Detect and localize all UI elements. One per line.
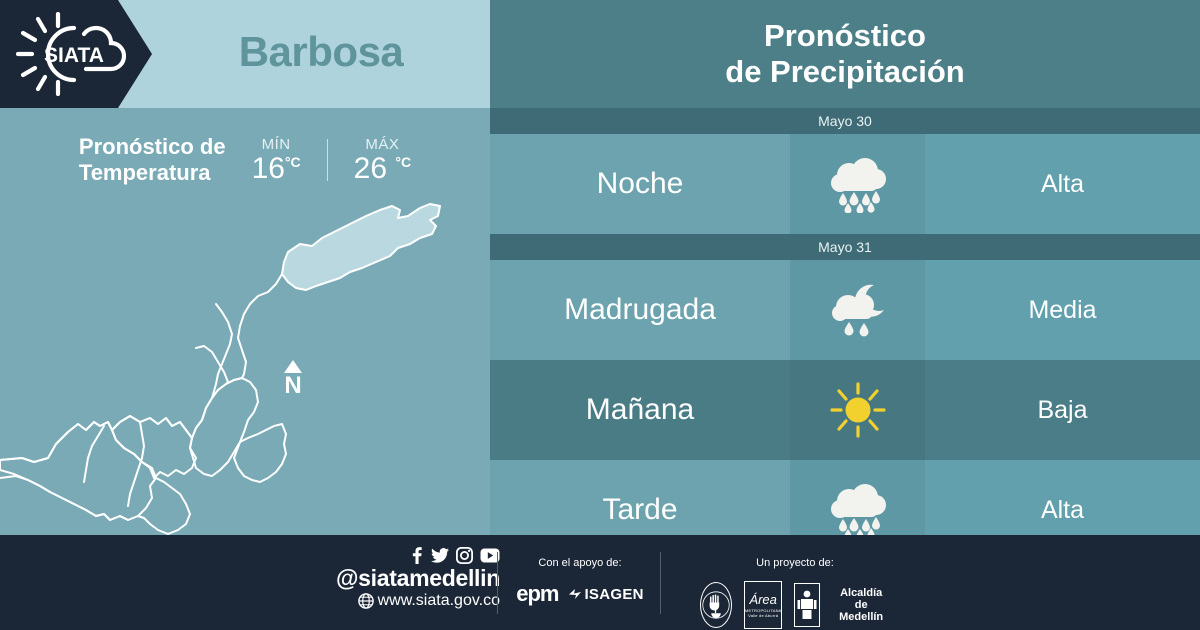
epm-logo: epm [516, 581, 558, 607]
temperature-min-label: MÍN [252, 136, 301, 153]
sun-icon [827, 381, 889, 439]
instagram-icon[interactable] [456, 547, 473, 564]
compass-label: N [276, 373, 310, 398]
weather-icon-cell-madrugada [790, 260, 925, 360]
hand-torch-icon [701, 590, 731, 620]
area-logo-sub: METROPOLITANA Valle de Aburrá [745, 608, 781, 618]
area-logo-text: Área [749, 593, 776, 606]
temperature-min: MÍN 16°C [252, 136, 301, 184]
social-block: @siatamedellin www.siata.gov.co [300, 547, 500, 610]
date-band-may30: Mayo 30 [490, 108, 1200, 134]
temperature-max: MÁX 26 °C [354, 136, 411, 184]
weather-icon-cell-noche [790, 134, 925, 234]
period-label-noche: Noche [490, 134, 790, 234]
support-logos: epm ISAGEN [505, 581, 655, 607]
map-region-barbosa[interactable] [282, 204, 440, 290]
temperature-title-line2: Temperatura [79, 160, 226, 186]
date-band-may31: Mayo 31 [490, 234, 1200, 260]
footer: @siatamedellin www.siata.gov.co Con el a… [0, 535, 1200, 630]
temperature-max-reading: 26 °C [354, 154, 411, 184]
project-caption: Un proyecto de: [700, 557, 890, 569]
sun-cloud-icon: SIATA [12, 12, 132, 96]
isagen-logo: ISAGEN [568, 586, 643, 603]
social-icons [300, 547, 500, 564]
period-label-madrugada: Madrugada [490, 260, 790, 360]
moon-cloud-rain-icon [827, 281, 889, 339]
city-name: Barbosa [152, 0, 490, 108]
probability-noche: Alta [925, 134, 1200, 234]
temperature-max-value: 26 [354, 152, 387, 185]
temperature-min-value: 16 [252, 152, 285, 185]
alcaldia-crest-icon [794, 583, 820, 627]
municipality-map [0, 186, 490, 535]
precipitation-title-line1: Pronóstico [764, 18, 926, 54]
temperature-max-label: MÁX [354, 136, 411, 153]
project-logos: Área METROPOLITANA Valle de Aburrá [700, 581, 890, 629]
precipitation-title: Pronóstico de Precipitación [490, 0, 1200, 108]
footer-divider-1 [497, 552, 498, 614]
support-block: Con el apoyo de: epm ISAGEN [505, 557, 655, 607]
facebook-icon[interactable] [409, 547, 424, 564]
twitter-icon[interactable] [431, 547, 449, 564]
period-label-manana: Mañana [490, 360, 790, 460]
social-handle[interactable]: @siatamedellin [300, 566, 500, 591]
compass-north: N [276, 360, 310, 398]
siata-logo-text: SIATA [44, 44, 104, 67]
raindrops [839, 191, 880, 213]
universidad-de-medellin-seal [700, 582, 732, 628]
website-line[interactable]: www.siata.gov.co [300, 591, 500, 610]
isagen-text: ISAGEN [584, 586, 643, 603]
isagen-mark-icon [568, 588, 582, 601]
precipitation-title-line2: de Precipitación [725, 54, 964, 90]
map-region-outlines [0, 274, 286, 534]
alcaldia-figure-icon [795, 588, 819, 622]
probability-madrugada: Media [925, 260, 1200, 360]
forecast-row-manana[interactable]: Mañana Baja [490, 360, 1200, 460]
globe-icon [358, 593, 374, 609]
aburra-valley-map-svg [0, 186, 490, 535]
left-panel: SIATA Barbosa Pronóstico de Temperatura … [0, 0, 490, 535]
alcaldia-label: Alcaldía de Medellín [832, 587, 890, 623]
temperature-title-line1: Pronóstico de [79, 134, 226, 160]
temperature-max-unit: °C [395, 154, 411, 170]
weather-forecast-infographic: SIATA Barbosa Pronóstico de Temperatura … [0, 0, 1200, 630]
support-caption: Con el apoyo de: [505, 557, 655, 569]
project-block: Un proyecto de: [700, 557, 890, 629]
rain-cloud-icon [827, 481, 889, 539]
temperature-min-reading: 16°C [252, 154, 301, 184]
forecast-row-noche[interactable]: Noche [490, 134, 1200, 234]
forecast-row-madrugada[interactable]: Madrugada Media [490, 260, 1200, 360]
temperature-title: Pronóstico de Temperatura [79, 134, 226, 186]
probability-manana: Baja [925, 360, 1200, 460]
weather-icon-cell-manana [790, 360, 925, 460]
website-text: www.siata.gov.co [378, 591, 500, 610]
temperature-divider [327, 139, 328, 181]
precipitation-panel: Pronóstico de Precipitación Mayo 30 Noch… [490, 0, 1200, 535]
area-metropolitana-logo: Área METROPOLITANA Valle de Aburrá [744, 581, 782, 629]
footer-divider-2 [660, 552, 661, 614]
rain-cloud-icon [827, 155, 889, 213]
temperature-min-unit: °C [285, 154, 301, 170]
left-body: Pronóstico de Temperatura MÍN 16°C MÁX 2… [0, 108, 490, 535]
